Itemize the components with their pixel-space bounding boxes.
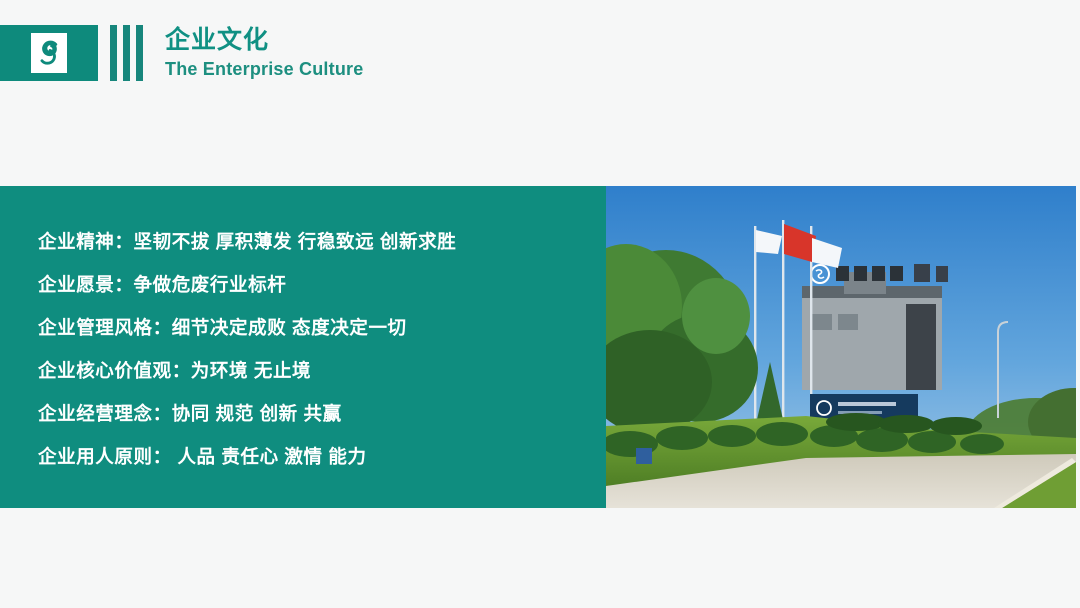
culture-line-philosophy: 企业经营理念：协同 规范 创新 共赢 — [38, 392, 588, 435]
three-vertical-bars-icon — [110, 25, 143, 81]
culture-panel: 企业精神：坚韧不拔 厚积薄发 行稳致远 创新求胜 企业愿景：争做危废行业标杆 企… — [0, 186, 606, 508]
spiral-swirl-logo-icon — [31, 33, 67, 73]
page-title-en: The Enterprise Culture — [165, 60, 363, 78]
logo-square — [31, 33, 67, 73]
waste-bin — [636, 448, 652, 464]
culture-line-spirit: 企业精神：坚韧不拔 厚积薄发 行稳致远 创新求胜 — [38, 220, 588, 263]
culture-line-values: 企业核心价值观：为环境 无止境 — [38, 349, 588, 392]
culture-line-style: 企业管理风格：细节决定成败 态度决定一切 — [38, 306, 588, 349]
company-entrance-photo — [606, 186, 1076, 508]
content-band: 企业精神：坚韧不拔 厚积薄发 行稳致远 创新求胜 企业愿景：争做危废行业标杆 企… — [0, 186, 1080, 508]
logo-block — [0, 25, 98, 81]
bar-3 — [136, 25, 143, 81]
culture-line-vision: 企业愿景：争做危废行业标杆 — [38, 263, 588, 306]
page-title-cn: 企业文化 — [165, 28, 363, 53]
company-entrance-illustration — [606, 186, 1076, 508]
bar-2 — [123, 25, 130, 81]
culture-line-hiring: 企业用人原则： 人品 责任心 激情 能力 — [38, 435, 588, 478]
page-title: 企业文化 The Enterprise Culture — [165, 25, 363, 81]
culture-list: 企业精神：坚韧不拔 厚积薄发 行稳致远 创新求胜 企业愿景：争做危废行业标杆 企… — [38, 220, 588, 478]
bar-1 — [110, 25, 117, 81]
slide-header: 企业文化 The Enterprise Culture — [0, 25, 363, 81]
